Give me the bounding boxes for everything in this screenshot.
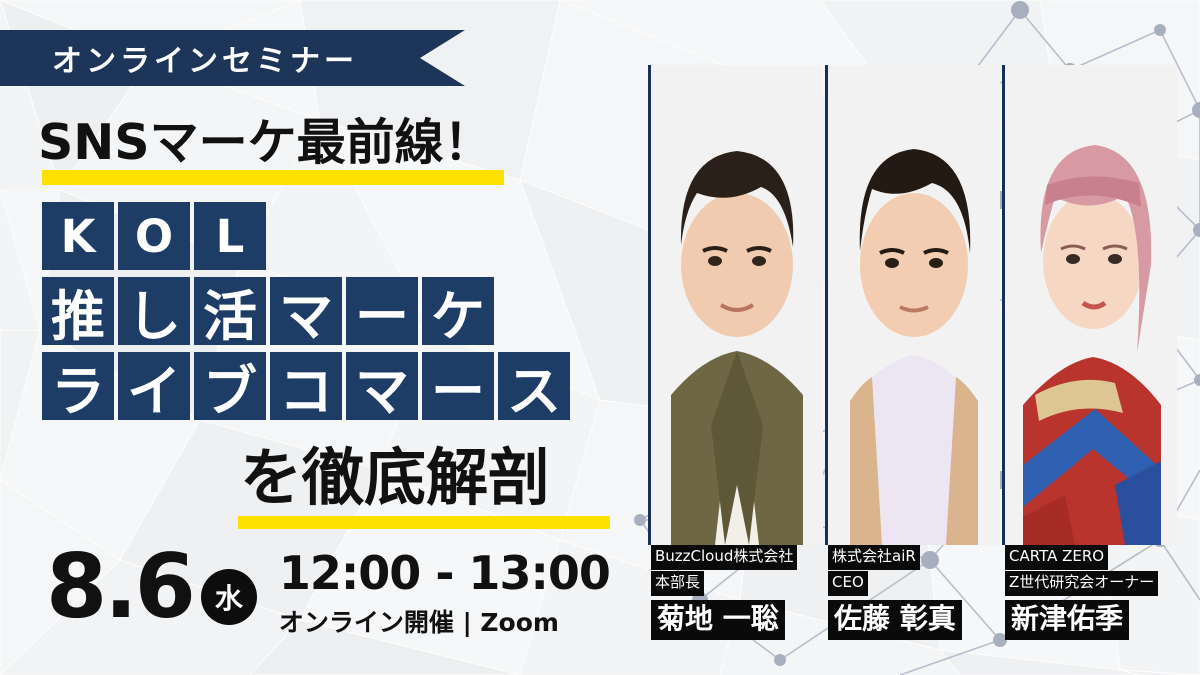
title-row-kol: K O L bbox=[42, 202, 266, 270]
speaker-caption: 株式会社aiR CEO 佐藤 彰真 bbox=[828, 545, 1028, 640]
speaker-company: BuzzCloud株式会社 bbox=[651, 545, 797, 570]
speaker-photo bbox=[828, 65, 1000, 545]
speaker-card: BuzzCloud株式会社 本部長 菊地 一聡 bbox=[648, 0, 823, 675]
seminar-banner: オンラインセミナー SNSマーケ最前線！ K O L 推 し 活 マ ー ケ ラ… bbox=[0, 0, 1200, 675]
title-row-livecommerce: ラ イ ブ コ マ ー ス bbox=[42, 352, 570, 420]
title-tile: ブ bbox=[194, 352, 266, 420]
speaker-company: 株式会社aiR bbox=[828, 545, 920, 570]
headline-underline-1 bbox=[42, 170, 504, 185]
headline-line-2: を徹底解剖 bbox=[240, 447, 550, 509]
headline-underline-2 bbox=[238, 516, 610, 529]
event-format: オンライン開催 | Zoom bbox=[279, 603, 610, 639]
speaker-company: CARTA ZERO bbox=[1005, 545, 1108, 570]
title-tile: イ bbox=[118, 352, 190, 420]
title-tile: ス bbox=[498, 352, 570, 420]
speaker-name: 新津佑季 bbox=[1005, 600, 1129, 640]
speaker-photo bbox=[651, 65, 823, 545]
title-tile: マ bbox=[270, 277, 342, 345]
title-tile: コ bbox=[270, 352, 342, 420]
speaker-title: 本部長 bbox=[651, 571, 704, 596]
title-tile: ラ bbox=[42, 352, 114, 420]
title-tile: K bbox=[42, 202, 114, 270]
event-date: 8.6 bbox=[46, 545, 193, 629]
title-tile: 活 bbox=[194, 277, 266, 345]
title-tile: ー bbox=[346, 277, 418, 345]
title-row-oshikatsu: 推 し 活 マ ー ケ bbox=[42, 277, 494, 345]
speaker-title: CEO bbox=[828, 571, 868, 596]
speaker-caption: BuzzCloud株式会社 本部長 菊地 一聡 bbox=[651, 545, 851, 640]
title-tile: 推 bbox=[42, 277, 114, 345]
title-tile: ケ bbox=[422, 277, 494, 345]
speaker-photo bbox=[1005, 65, 1177, 545]
title-tile: マ bbox=[346, 352, 418, 420]
speaker-panel: BuzzCloud株式会社 本部長 菊地 一聡 bbox=[640, 0, 1200, 675]
speaker-title: Z世代研究会オーナー bbox=[1005, 571, 1158, 596]
event-time: 12:00 - 13:00 bbox=[279, 549, 610, 597]
speaker-caption: CARTA ZERO Z世代研究会オーナー 新津佑季 bbox=[1005, 545, 1200, 640]
title-tile: O bbox=[118, 202, 190, 270]
event-date-block: 8.6 水 12:00 - 13:00 オンライン開催 | Zoom bbox=[46, 545, 610, 639]
speaker-name: 佐藤 彰真 bbox=[828, 600, 962, 640]
title-tile: し bbox=[118, 277, 190, 345]
headline-line-1: SNSマーケ最前線！ bbox=[38, 118, 493, 167]
ribbon-label: オンラインセミナー bbox=[52, 30, 358, 86]
title-tile: L bbox=[194, 202, 266, 270]
speaker-card: CARTA ZERO Z世代研究会オーナー 新津佑季 bbox=[1002, 0, 1177, 675]
speaker-card: 株式会社aiR CEO 佐藤 彰真 bbox=[825, 0, 1000, 675]
title-tile: ー bbox=[422, 352, 494, 420]
speaker-name: 菊地 一聡 bbox=[651, 600, 785, 640]
weekday-badge: 水 bbox=[201, 569, 257, 625]
